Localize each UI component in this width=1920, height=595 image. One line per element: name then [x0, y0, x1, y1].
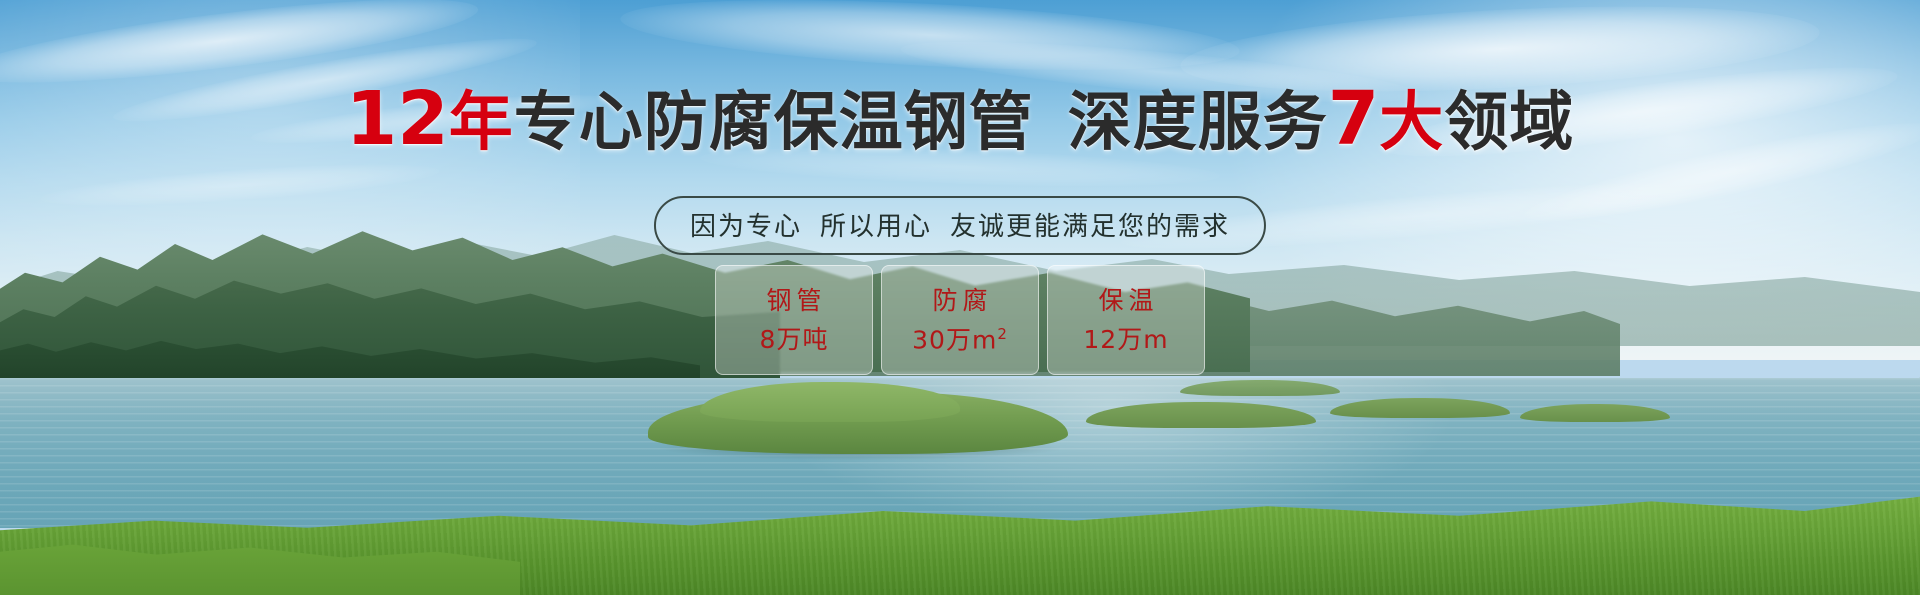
stat-card-value-text: 12万m	[1083, 325, 1168, 354]
headline-service-text: 深度服务	[1068, 86, 1328, 160]
subtitle-part-2: 所以用心	[820, 212, 932, 242]
stat-card-value: 12万m	[1083, 327, 1168, 352]
headline-main-text: 专心防腐保温钢管	[514, 86, 1034, 160]
stat-cards: 钢管 8万吨 防腐 30万m2 保温 12万m	[715, 265, 1205, 375]
headline-fields-text: 领域	[1444, 86, 1574, 160]
stat-card-value-sup: 2	[997, 325, 1008, 343]
stat-card-steel-pipe: 钢管 8万吨	[715, 265, 873, 375]
stat-card-value: 8万吨	[760, 327, 829, 352]
stat-card-anticorrosion: 防腐 30万m2	[881, 265, 1039, 375]
headline-years-number: 12	[346, 76, 449, 162]
banner-content: 12年专心防腐保温钢管深度服务7大领域 因为专心所以用心友诚更能满足您的需求 钢…	[0, 0, 1920, 595]
subtitle-pill: 因为专心所以用心友诚更能满足您的需求	[654, 196, 1266, 255]
stat-card-label: 钢管	[761, 288, 826, 313]
stat-card-label: 保温	[1093, 288, 1158, 313]
stat-card-value: 30万m2	[912, 327, 1008, 352]
stat-card-label: 防腐	[927, 288, 992, 313]
headline-fields-unit: 大	[1379, 86, 1444, 160]
hero-banner: 12年专心防腐保温钢管深度服务7大领域 因为专心所以用心友诚更能满足您的需求 钢…	[0, 0, 1920, 595]
subtitle-part-3: 友诚更能满足您的需求	[950, 212, 1230, 242]
headline-years-unit: 年	[449, 86, 514, 160]
banner-headline: 12年专心防腐保温钢管深度服务7大领域	[0, 82, 1920, 156]
stat-card-value-text: 8万吨	[760, 325, 829, 354]
headline-fields-number: 7	[1328, 76, 1380, 162]
stat-card-value-text: 30万m	[912, 325, 997, 354]
subtitle-part-1: 因为专心	[690, 212, 802, 242]
stat-card-insulation: 保温 12万m	[1047, 265, 1205, 375]
